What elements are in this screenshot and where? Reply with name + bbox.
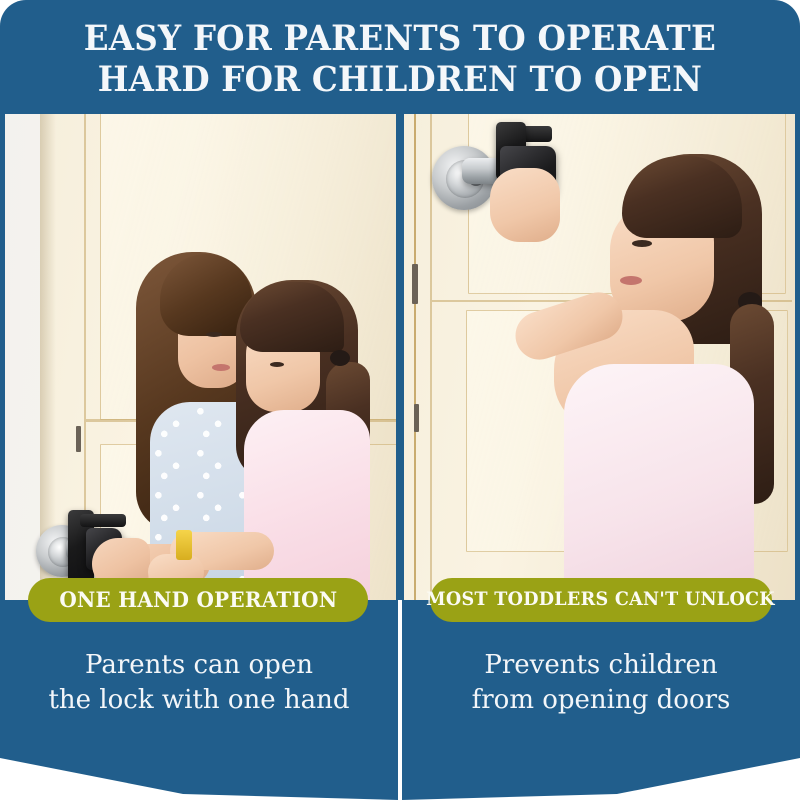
door-hinge-upper [412,264,418,304]
badge-right-label: MOST TODDLERS CAN'T UNLOCK [427,589,776,611]
stage-edge-right [795,114,800,619]
caption-right-line-2: from opening doors [402,683,800,718]
child-left-hair-front [240,282,344,352]
headline-line-2: HARD FOR CHILDREN TO OPEN [98,59,702,100]
headline-line-1: EASY FOR PARENTS TO OPERATE [84,18,716,59]
door-hinge-lower [414,404,419,432]
badge-most-toddlers-cant-unlock: MOST TODDLERS CAN'T UNLOCK [430,578,772,622]
child-left-bracelet [176,530,192,560]
child-left-hair-tie [330,350,350,366]
child-right-eye [632,240,652,247]
caption-left-line-2: the lock with one hand [0,683,398,718]
door-stile-line [430,114,432,619]
caption-left: Parents can open the lock with one hand [0,648,398,718]
badge-one-hand-operation: ONE HAND OPERATION [28,578,368,622]
product-infographic: EASY FOR PARENTS TO OPERATE HARD FOR CHI… [0,0,800,800]
caption-right-line-1: Prevents children [402,648,800,683]
photo-stage [0,114,800,619]
door-hinge [76,426,81,452]
badge-left-label: ONE HAND OPERATION [59,589,337,611]
mother-mouth [212,364,230,371]
child-right-hand [490,168,560,242]
caption-left-line-1: Parents can open [0,648,398,683]
child-right-mouth [620,276,642,285]
panel-divider [396,114,404,619]
child-left-eye [270,362,284,367]
photo-left-parent-opening-lock [0,114,396,619]
stage-edge-left [0,114,5,619]
headline-banner: EASY FOR PARENTS TO OPERATE HARD FOR CHI… [0,0,800,114]
door-edge-seam [414,114,416,619]
mother-eye [206,332,222,337]
caption-right: Prevents children from opening doors [402,648,800,718]
child-lock-upper-arm [80,514,126,527]
photo-right-toddler-blocked [404,114,800,619]
